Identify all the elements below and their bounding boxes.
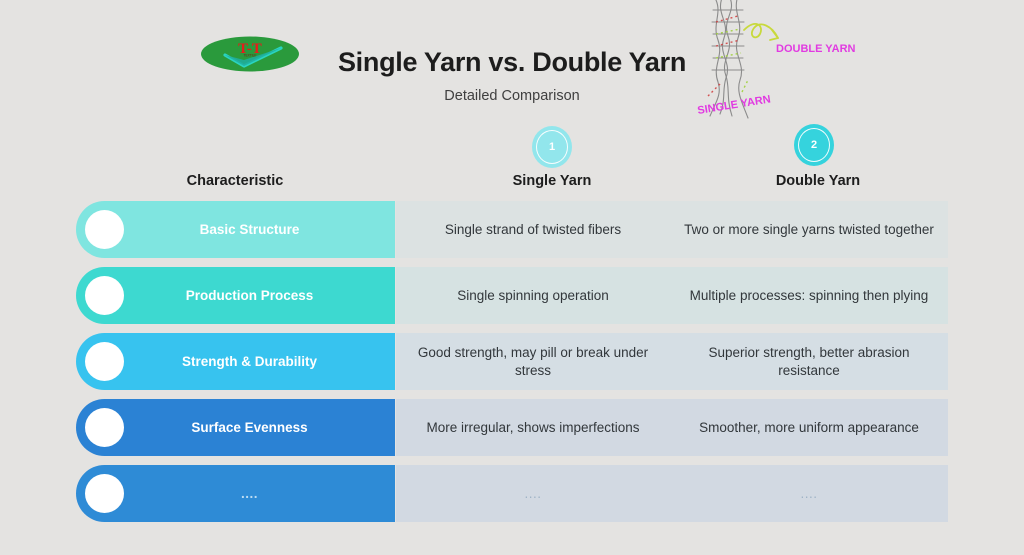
- table-row: Production Process Single spinning opera…: [76, 267, 948, 324]
- row-label-pill: Basic Structure: [76, 201, 395, 258]
- cell-single-yarn: Single spinning operation: [396, 267, 670, 324]
- column-header-single-yarn: Single Yarn: [453, 173, 651, 189]
- table-row: Strength & Durability Good strength, may…: [76, 333, 948, 390]
- badge-single-number: 1: [549, 141, 555, 153]
- illustration-label-single: SINGLE YARN: [697, 94, 772, 117]
- twisted-yarn-sketch-icon: DOUBLE YARN SINGLE YARN: [686, 0, 876, 128]
- cell-double-yarn: ....: [670, 465, 948, 522]
- cell-double-yarn: Multiple processes: spinning then plying: [670, 267, 948, 324]
- row-label-pill: ....: [76, 465, 395, 522]
- cell-double-yarn: Smoother, more uniform appearance: [670, 399, 948, 456]
- badge-double-yarn: 2: [794, 124, 834, 166]
- cell-single-yarn: ....: [396, 465, 670, 522]
- row-label-pill: Production Process: [76, 267, 395, 324]
- row-label-pill: Strength & Durability: [76, 333, 395, 390]
- page-header: T-T TEXTILE Single Yarn vs. Double Yarn …: [0, 0, 1024, 120]
- row-marker-dot: [85, 276, 124, 315]
- badge-single-yarn: 1: [532, 126, 572, 168]
- table-row: Basic Structure Single strand of twisted…: [76, 201, 948, 258]
- row-label-pill: Surface Evenness: [76, 399, 395, 456]
- column-header-characteristic: Characteristic: [136, 173, 334, 189]
- cell-double-yarn: Two or more single yarns twisted togethe…: [670, 201, 948, 258]
- row-marker-dot: [85, 342, 124, 381]
- cell-double-yarn: Superior strength, better abrasion resis…: [670, 333, 948, 390]
- row-marker-dot: [85, 408, 124, 447]
- row-marker-dot: [85, 210, 124, 249]
- column-header-double-yarn: Double Yarn: [719, 173, 917, 189]
- badge-double-number: 2: [811, 139, 817, 151]
- table-row: .... .... ....: [76, 465, 948, 522]
- cell-single-yarn: Single strand of twisted fibers: [396, 201, 670, 258]
- table-row: Surface Evenness More irregular, shows i…: [76, 399, 948, 456]
- comparison-table: Basic Structure Single strand of twisted…: [76, 201, 948, 531]
- row-marker-dot: [85, 474, 124, 513]
- cell-single-yarn: Good strength, may pill or break under s…: [396, 333, 670, 390]
- cell-single-yarn: More irregular, shows imperfections: [396, 399, 670, 456]
- illustration-label-double: DOUBLE YARN: [776, 43, 856, 55]
